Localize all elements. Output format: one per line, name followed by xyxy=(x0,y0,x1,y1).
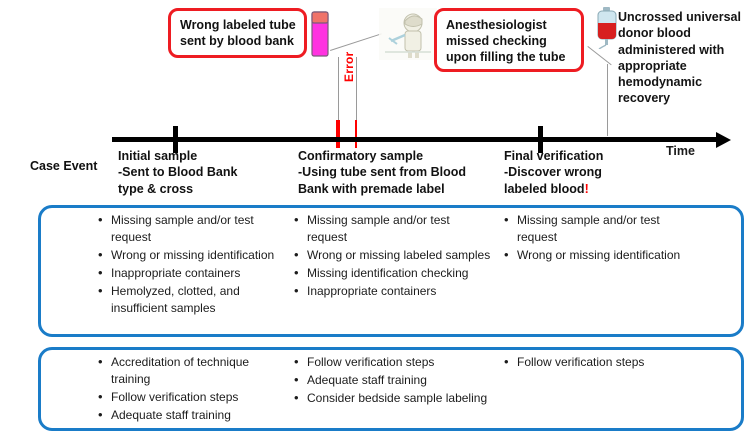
error-tick-right xyxy=(355,120,357,148)
potential-errors-column-3: Missing sample and/or test request Wrong… xyxy=(502,212,687,265)
event-final-verification: Final verification -Discover wrong label… xyxy=(504,148,664,197)
list-item: Wrong or missing identification xyxy=(96,247,281,264)
row-label-case-event: Case Event xyxy=(30,159,97,175)
potential-errors-column-1: Missing sample and/or test request Wrong… xyxy=(96,212,281,318)
leader-line-surgeon xyxy=(330,33,382,51)
alert-exclamation: ! xyxy=(585,182,589,196)
potential-errors-column-2: Missing sample and/or test request Wrong… xyxy=(292,212,492,301)
list-item: Consider bedside sample labeling xyxy=(292,390,492,407)
list-item: Follow verification steps xyxy=(502,354,692,371)
event-detail: type & cross xyxy=(118,181,293,197)
error-tick-left xyxy=(336,120,340,148)
event-detail: -Discover wrong xyxy=(504,164,664,180)
donor-blood-note: Uncrossed universal donor blood administ… xyxy=(618,9,748,107)
leader-line-donor xyxy=(607,64,608,136)
list-item: Wrong or missing labeled samples xyxy=(292,247,492,264)
list-item: Missing sample and/or test request xyxy=(292,212,492,246)
list-item: Missing sample and/or test request xyxy=(502,212,687,246)
event-detail: Bank with premade label xyxy=(298,181,493,197)
solutions-column-1: Accreditation of technique training Foll… xyxy=(96,354,286,425)
diagram-canvas: Wrong labeled tube sent by blood bank An… xyxy=(0,0,752,440)
event-detail: -Sent to Blood Bank xyxy=(118,164,293,180)
solutions-column-3: Follow verification steps xyxy=(502,354,692,372)
event-confirmatory-sample: Confirmatory sample -Using tube sent fro… xyxy=(298,148,493,197)
event-detail: -Using tube sent from Blood xyxy=(298,164,493,180)
timeline-axis xyxy=(112,137,720,142)
solutions-column-2: Follow verification steps Adequate staff… xyxy=(292,354,492,408)
list-item: Missing sample and/or test request xyxy=(96,212,281,246)
test-tube-icon xyxy=(310,11,330,57)
event-title: Initial sample xyxy=(118,148,293,164)
list-item: Adequate staff training xyxy=(96,407,286,424)
callout-anesthesiologist-missed-checking: Anesthesiologist missed checking upon fi… xyxy=(434,8,584,72)
callout-wrong-labeled-tube: Wrong labeled tube sent by blood bank xyxy=(168,8,307,58)
list-item: Missing identification checking xyxy=(292,265,492,282)
event-title: Confirmatory sample xyxy=(298,148,493,164)
list-item: Hemolyzed, clotted, and insufficient sam… xyxy=(96,283,281,317)
list-item: Inappropriate containers xyxy=(96,265,281,282)
error-label: Error xyxy=(342,52,356,82)
event-detail-with-alert: labeled blood! xyxy=(504,181,664,197)
list-item: Follow verification steps xyxy=(292,354,492,371)
list-item: Adequate staff training xyxy=(292,372,492,389)
event-initial-sample: Initial sample -Sent to Blood Bank type … xyxy=(118,148,293,197)
event-detail-text: labeled blood xyxy=(504,182,585,196)
axis-label-time: Time xyxy=(666,144,695,158)
list-item: Wrong or missing identification xyxy=(502,247,687,264)
blood-bag-icon xyxy=(596,7,618,49)
timeline-arrowhead xyxy=(716,132,731,148)
event-title: Final verification xyxy=(504,148,664,164)
list-item: Inappropriate containers xyxy=(292,283,492,300)
list-item: Accreditation of technique training xyxy=(96,354,286,388)
list-item: Follow verification steps xyxy=(96,389,286,406)
anesthesiologist-figure-icon xyxy=(379,8,437,60)
